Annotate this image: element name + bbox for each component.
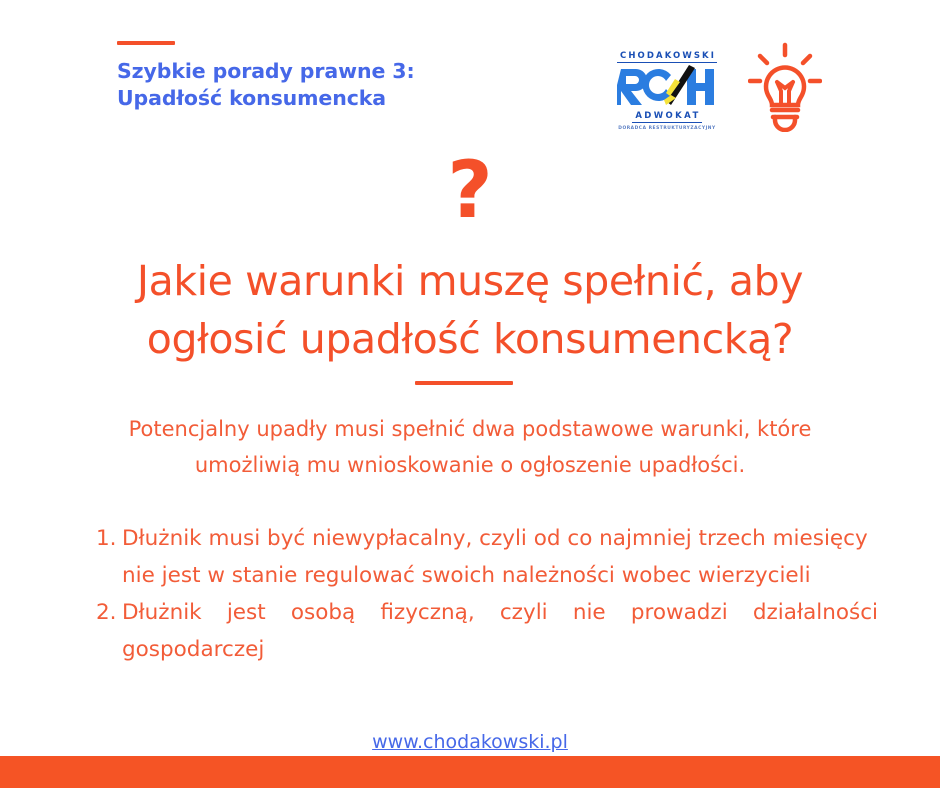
page-title-line2: Upadłość konsumencka <box>117 85 537 112</box>
header-accent-bar <box>117 41 175 45</box>
intro-line2: umożliwią mu wnioskowanie o ogłoszenie u… <box>110 447 830 483</box>
logo-rch-mark <box>608 65 726 105</box>
question-mark-glyph: ? <box>0 152 940 230</box>
intro-line1: Potencjalny upadły musi spełnić dwa pods… <box>129 417 812 441</box>
lightbulb-icon-wrapper <box>748 42 822 132</box>
page-title: Szybkie porady prawne 3: Upadłość konsum… <box>117 58 537 112</box>
list-item-text: Dłużnik musi być niewypłacalny, czyli od… <box>122 520 878 594</box>
headline-line2: ogłosić upadłość konsumencką? <box>70 310 870 368</box>
slide-canvas: Szybkie porady prawne 3: Upadłość konsum… <box>0 0 940 788</box>
footer-accent-bar <box>0 756 940 788</box>
list-item-number: 2. <box>96 594 118 631</box>
headline-line1: Jakie warunki muszę spełnić, aby <box>137 257 803 305</box>
section-divider <box>415 381 513 385</box>
rch-monogram-icon <box>617 65 717 105</box>
intro-paragraph: Potencjalny upadły musi spełnić dwa pods… <box>110 411 830 483</box>
logo-name-text: CHODAKOWSKI <box>617 51 717 63</box>
brand-logo: CHODAKOWSKI ADWOKAT DORADCA RESTRUKTURYZ… <box>608 45 726 125</box>
website-link[interactable]: www.chodakowski.pl <box>0 730 940 754</box>
list-item: 2. Dłużnik jest osobą fizyczną, czyli ni… <box>96 594 878 705</box>
logo-subtitle-text: DORADCA RESTRUKTURYZACYJNY <box>608 125 726 132</box>
logo-role-text: ADWOKAT <box>632 111 701 123</box>
list-item-number: 1. <box>96 520 118 557</box>
conditions-list: 1. Dłużnik musi być niewypłacalny, czyli… <box>96 520 878 705</box>
headline: Jakie warunki muszę spełnić, aby ogłosić… <box>70 252 870 368</box>
lightbulb-icon <box>748 42 822 132</box>
list-item: 1. Dłużnik musi być niewypłacalny, czyli… <box>96 520 878 594</box>
list-item-text: Dłużnik jest osobą fizyczną, czyli nie p… <box>122 594 878 705</box>
page-title-line1: Szybkie porady prawne 3: <box>117 59 415 83</box>
